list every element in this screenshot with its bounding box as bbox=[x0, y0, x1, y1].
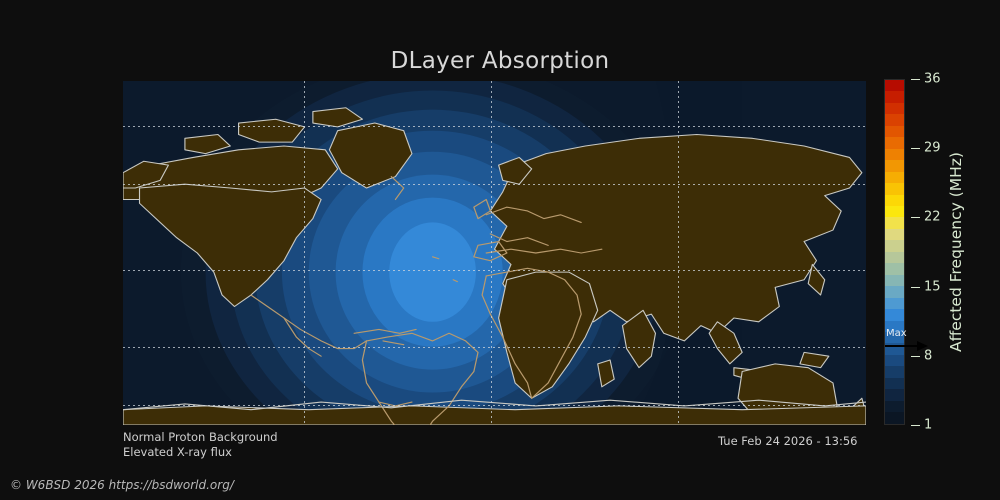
gridline-lat-m60 bbox=[123, 405, 866, 406]
colorbar-tick bbox=[911, 287, 920, 288]
gridline-lon-90 bbox=[678, 81, 679, 425]
colorbar-segment bbox=[885, 263, 904, 274]
map-graphic bbox=[123, 81, 866, 425]
colorbar-segment bbox=[885, 275, 904, 286]
colorbar-segment bbox=[885, 240, 904, 251]
colorbar-tick bbox=[911, 425, 920, 426]
copyright-credit: © W6BSD 2026 https://bsdworld.org/ bbox=[10, 478, 234, 492]
colorbar-segment bbox=[885, 126, 904, 137]
colorbar-segment bbox=[885, 378, 904, 389]
colorbar-max-marker: Max bbox=[884, 329, 932, 355]
colorbar-tick bbox=[911, 217, 920, 218]
colorbar-segment bbox=[885, 286, 904, 297]
colorbar-segment bbox=[885, 137, 904, 148]
colorbar-tick-label: 36 bbox=[924, 72, 941, 87]
colorbar-segment bbox=[885, 91, 904, 102]
world-map[interactable] bbox=[123, 81, 866, 425]
colorbar-segment bbox=[885, 389, 904, 400]
colorbar-segment bbox=[885, 160, 904, 171]
colorbar-segment bbox=[885, 366, 904, 377]
colorbar-segment bbox=[885, 103, 904, 114]
colorbar-segment bbox=[885, 412, 904, 423]
colorbar-tick bbox=[911, 148, 920, 149]
colorbar-axis-label: Affected Frequency (MHz) bbox=[944, 79, 968, 425]
colorbar-segment bbox=[885, 355, 904, 366]
max-marker-label: Max bbox=[886, 329, 907, 339]
colorbar-segment bbox=[885, 172, 904, 183]
colorbar-tick bbox=[911, 79, 920, 80]
colorbar-segment bbox=[885, 229, 904, 240]
colorbar-tick-label: 29 bbox=[924, 141, 941, 156]
colorbar-segment bbox=[885, 80, 904, 91]
gridline-lon-0 bbox=[491, 81, 492, 425]
colorbar-tick-label: 15 bbox=[924, 279, 941, 294]
gridline-lon-m90 bbox=[304, 81, 305, 425]
gridline-lat-m30 bbox=[123, 347, 866, 348]
colorbar-tick bbox=[911, 356, 920, 357]
timestamp: Tue Feb 24 2026 - 13:56 bbox=[718, 434, 857, 448]
arrow-right-icon bbox=[884, 339, 930, 353]
colorbar bbox=[884, 79, 905, 425]
colorbar-tick-label: 22 bbox=[924, 210, 941, 225]
gridline-lat-60 bbox=[123, 126, 866, 127]
colorbar-segment bbox=[885, 217, 904, 228]
colorbar-segment bbox=[885, 298, 904, 309]
colorbar-tick-label: 1 bbox=[924, 418, 932, 433]
colorbar-segment bbox=[885, 149, 904, 160]
colorbar-segment bbox=[885, 401, 904, 412]
page-title: DLayer Absorption bbox=[0, 48, 1000, 74]
status-note-proton: Normal Proton Background bbox=[123, 430, 278, 444]
gridline-lat-0 bbox=[123, 270, 866, 271]
gridline-lat-30 bbox=[123, 184, 866, 185]
colorbar-segment bbox=[885, 183, 904, 194]
colorbar-segment bbox=[885, 114, 904, 125]
plot-canvas: DLayer Absorption bbox=[0, 0, 1000, 500]
colorbar-segment bbox=[885, 309, 904, 320]
colorbar-segment bbox=[885, 252, 904, 263]
colorbar-segment bbox=[885, 206, 904, 217]
status-note-xray: Elevated X-ray flux bbox=[123, 445, 232, 459]
colorbar-segment bbox=[885, 195, 904, 206]
